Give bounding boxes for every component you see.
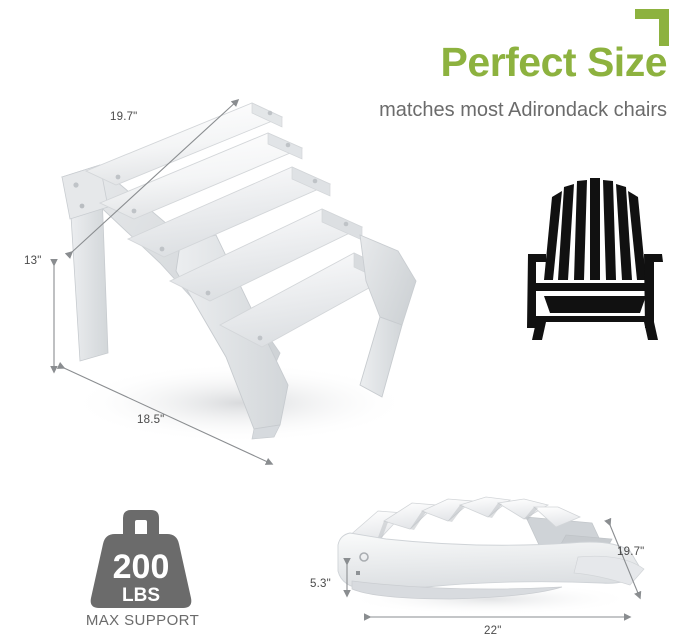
dimension-label-depth: 18.5" <box>137 414 164 426</box>
page-title: Perfect Size <box>441 42 667 83</box>
dimension-label-folded-width: 22" <box>484 625 501 637</box>
weight-kettlebell-icon: 200 LBS <box>85 510 197 610</box>
main-dimension-arrows <box>0 80 430 480</box>
dimension-label-height: 13" <box>24 255 41 267</box>
weight-unit-text: LBS <box>122 585 160 606</box>
dimension-label-folded-depth: 19.7" <box>617 546 644 558</box>
weight-caption: MAX SUPPORT <box>60 612 225 629</box>
weight-value-text: 200 <box>113 548 170 586</box>
dimension-label-width-top: 19.7" <box>110 111 137 123</box>
infographic-canvas: Perfect Size matches most Adirondack cha… <box>0 0 679 641</box>
adirondack-chair-silhouette-icon <box>520 170 670 340</box>
dimension-label-folded-height: 5.3" <box>310 578 331 590</box>
folded-dimension-arrows <box>290 495 679 641</box>
